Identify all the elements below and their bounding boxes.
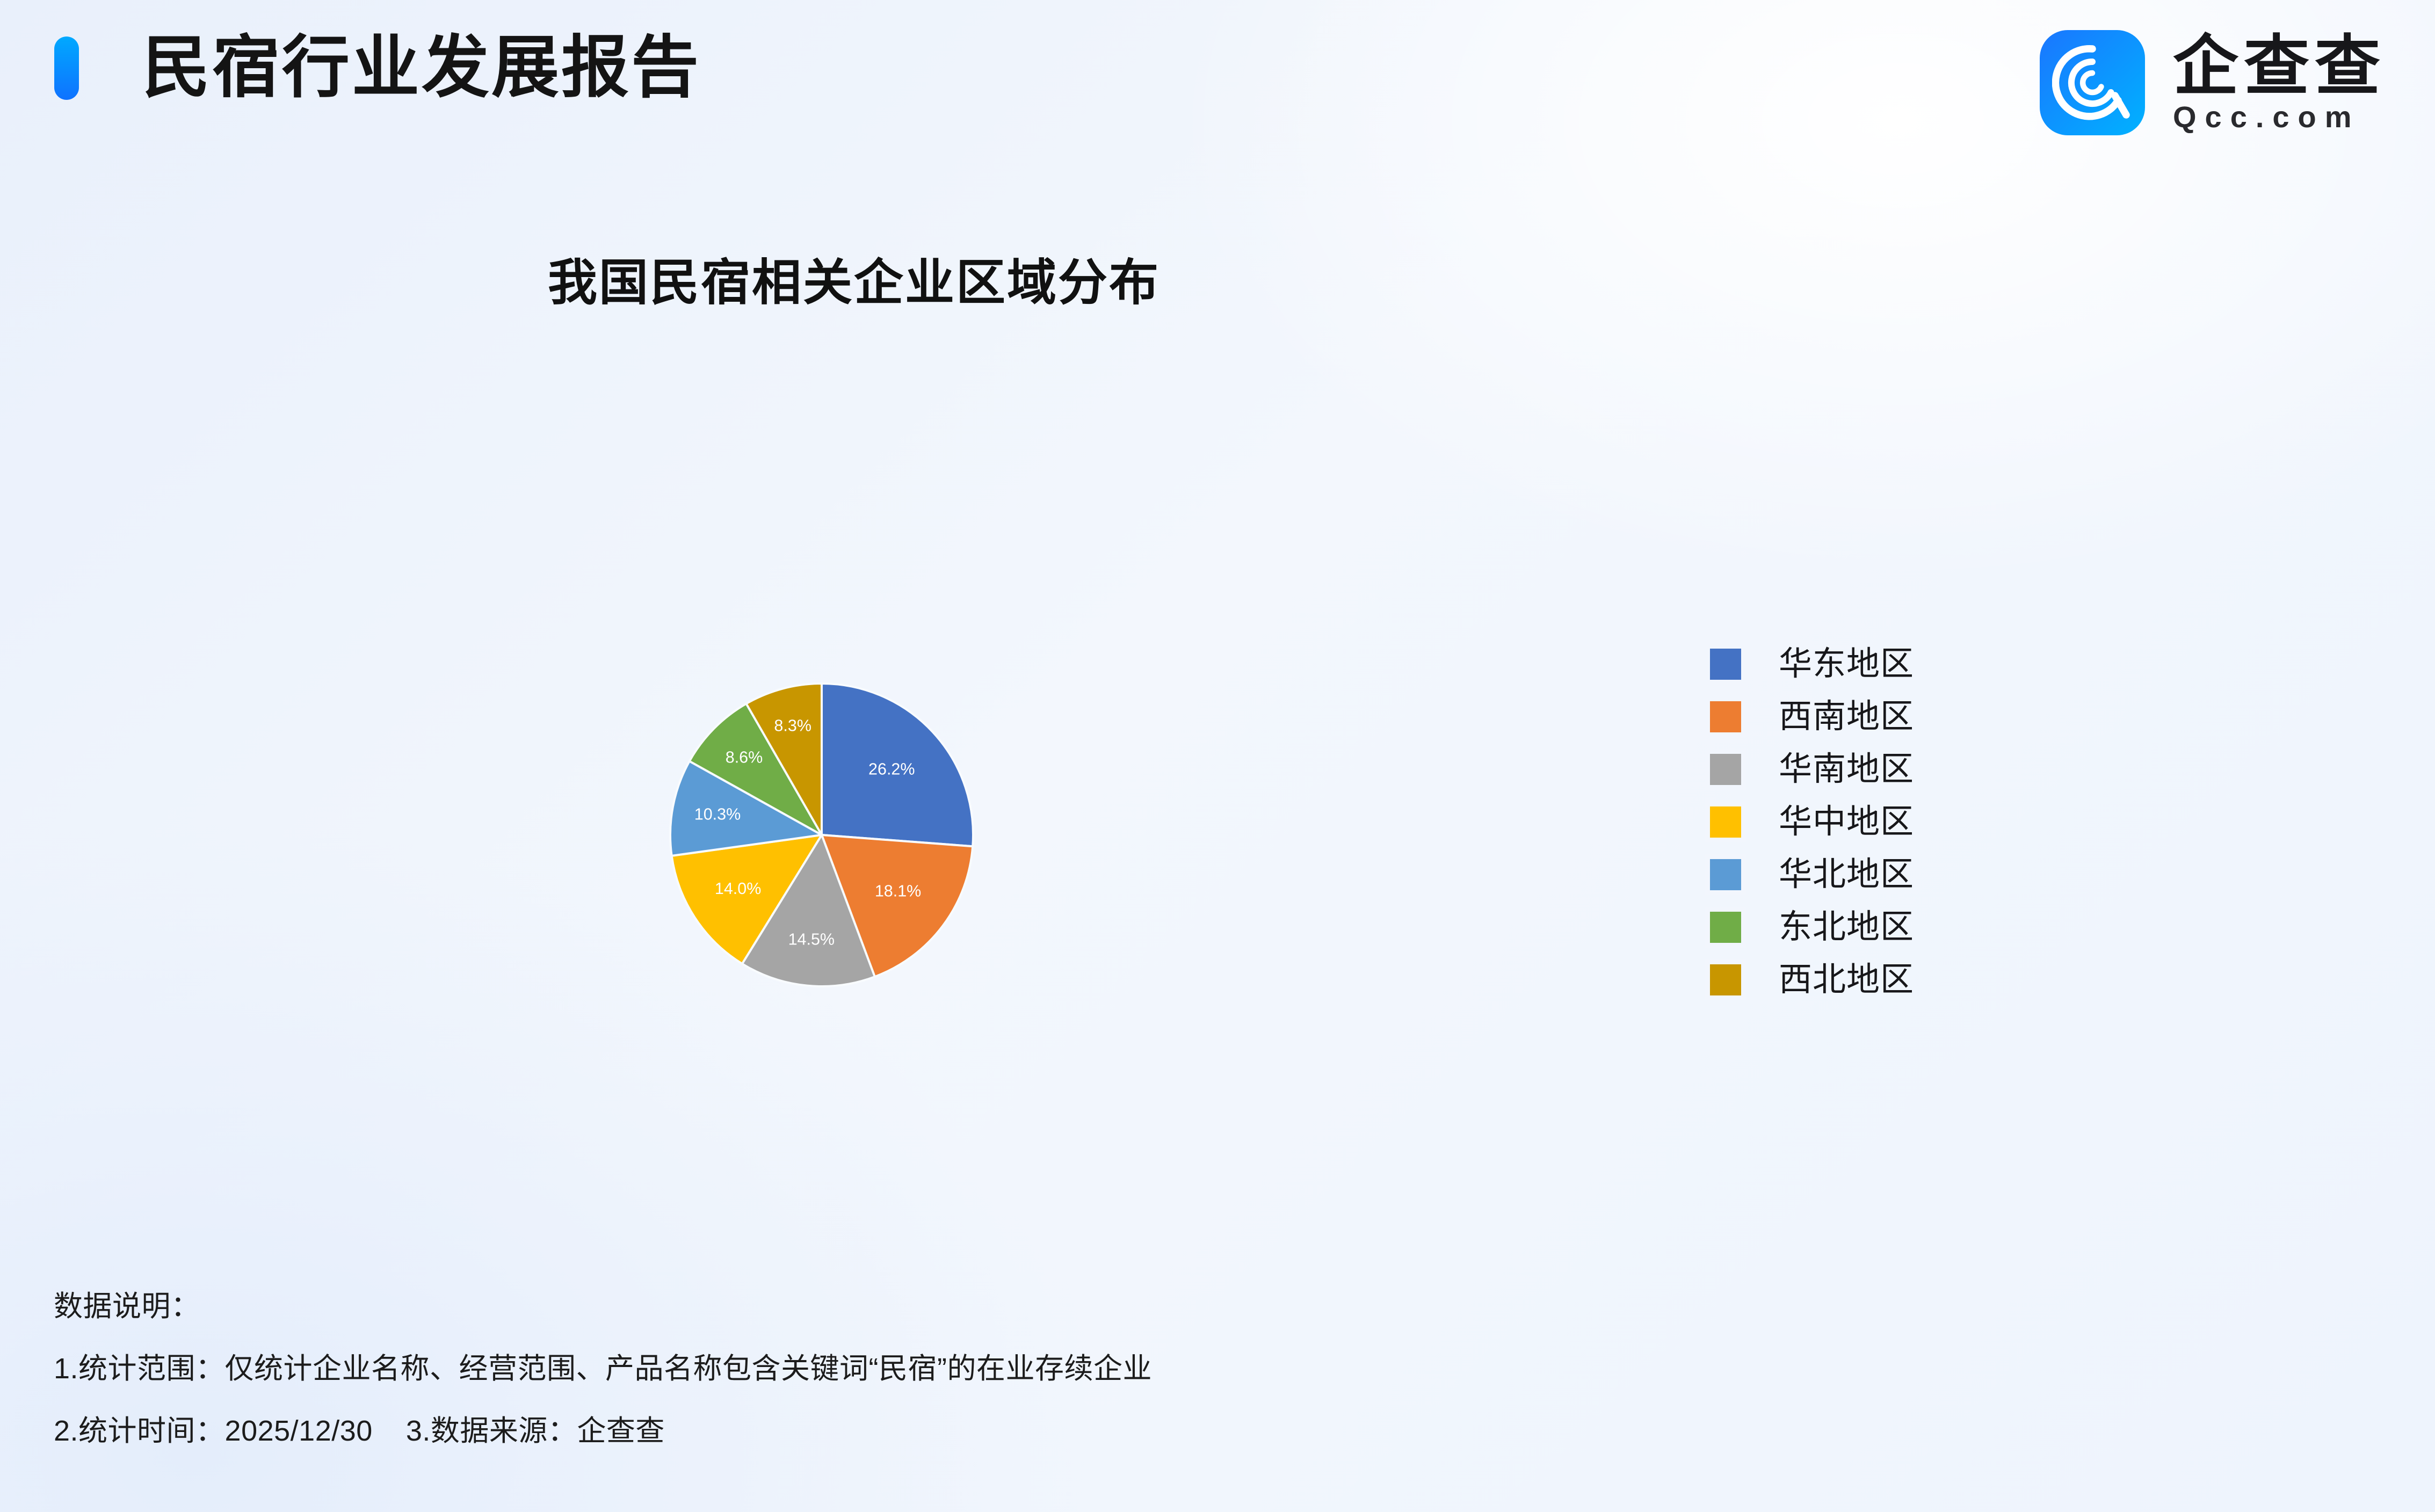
- brand-text: 企查查 Qcc.com: [2173, 33, 2386, 132]
- legend-color-swatch: [1710, 754, 1741, 785]
- chart-legend: 华东地区西南地区华南地区华中地区华北地区东北地区西北地区: [1710, 638, 1914, 1006]
- pie-slice-label: 14.5%: [788, 931, 835, 949]
- legend-color-swatch: [1710, 701, 1741, 732]
- legend-color-swatch: [1710, 912, 1741, 943]
- pie-slice-label: 8.3%: [774, 716, 811, 735]
- chart-title: 我国民宿相关企业区域分布: [0, 243, 1708, 314]
- legend-item-label: 西南地区: [1779, 700, 1914, 733]
- pie-chart-svg: 26.2%18.1%14.5%14.0%10.3%8.6%8.3%: [668, 681, 975, 988]
- brand-name-cn: 企查查: [2173, 33, 2386, 99]
- legend-color-swatch: [1710, 806, 1741, 838]
- notes-data-source: 3.数据来源：企查查: [406, 1415, 665, 1447]
- legend-color-swatch: [1710, 649, 1741, 680]
- legend-color-swatch: [1710, 964, 1741, 995]
- legend-item-label: 华南地区: [1779, 753, 1914, 786]
- legend-item[interactable]: 西北地区: [1710, 954, 1914, 1006]
- pie-slice-label: 10.3%: [694, 805, 741, 824]
- legend-item[interactable]: 华南地区: [1710, 743, 1914, 796]
- legend-item-label: 西北地区: [1779, 963, 1914, 997]
- pie-slice-label: 26.2%: [868, 760, 915, 778]
- page-header: 民宿行业发展报告 企查查 Qcc.com: [0, 0, 2435, 177]
- legend-item-label: 华东地区: [1779, 648, 1914, 681]
- pie-slice-label: 18.1%: [875, 882, 921, 900]
- legend-item[interactable]: 华东地区: [1710, 638, 1914, 690]
- legend-item[interactable]: 华北地区: [1710, 848, 1914, 901]
- legend-item-label: 东北地区: [1779, 911, 1914, 944]
- brand-name-en: Qcc.com: [2173, 102, 2386, 132]
- legend-item-label: 华中地区: [1779, 805, 1914, 839]
- legend-item[interactable]: 西南地区: [1710, 690, 1914, 743]
- page-title: 民宿行业发展报告: [142, 24, 701, 112]
- brand-logo: 企查查 Qcc.com: [2040, 30, 2386, 135]
- pie-slice-label: 8.6%: [726, 748, 763, 766]
- notes-scope-line: 1.统计范围：仅统计企业名称、经营范围、产品名称包含关键词“民宿”的在业存续企业: [54, 1354, 1880, 1383]
- legend-item-label: 华北地区: [1779, 858, 1914, 891]
- data-notes: 数据说明： 1.统计范围：仅统计企业名称、经营范围、产品名称包含关键词“民宿”的…: [54, 1292, 1880, 1445]
- notes-heading: 数据说明：: [54, 1292, 1880, 1321]
- legend-color-swatch: [1710, 859, 1741, 890]
- legend-item[interactable]: 华中地区: [1710, 796, 1914, 848]
- pie-slice-label: 14.0%: [715, 879, 761, 898]
- qcc-spiral-q-logo-icon: [2040, 30, 2145, 135]
- legend-item[interactable]: 东北地区: [1710, 901, 1914, 954]
- notes-time-source-line: 2.统计时间：2025/12/303.数据来源：企查查: [54, 1416, 1880, 1445]
- notes-stat-time: 2.统计时间：2025/12/30: [54, 1415, 373, 1447]
- title-accent-bar: [54, 37, 79, 100]
- pie-chart: 26.2%18.1%14.5%14.0%10.3%8.6%8.3%: [668, 681, 975, 988]
